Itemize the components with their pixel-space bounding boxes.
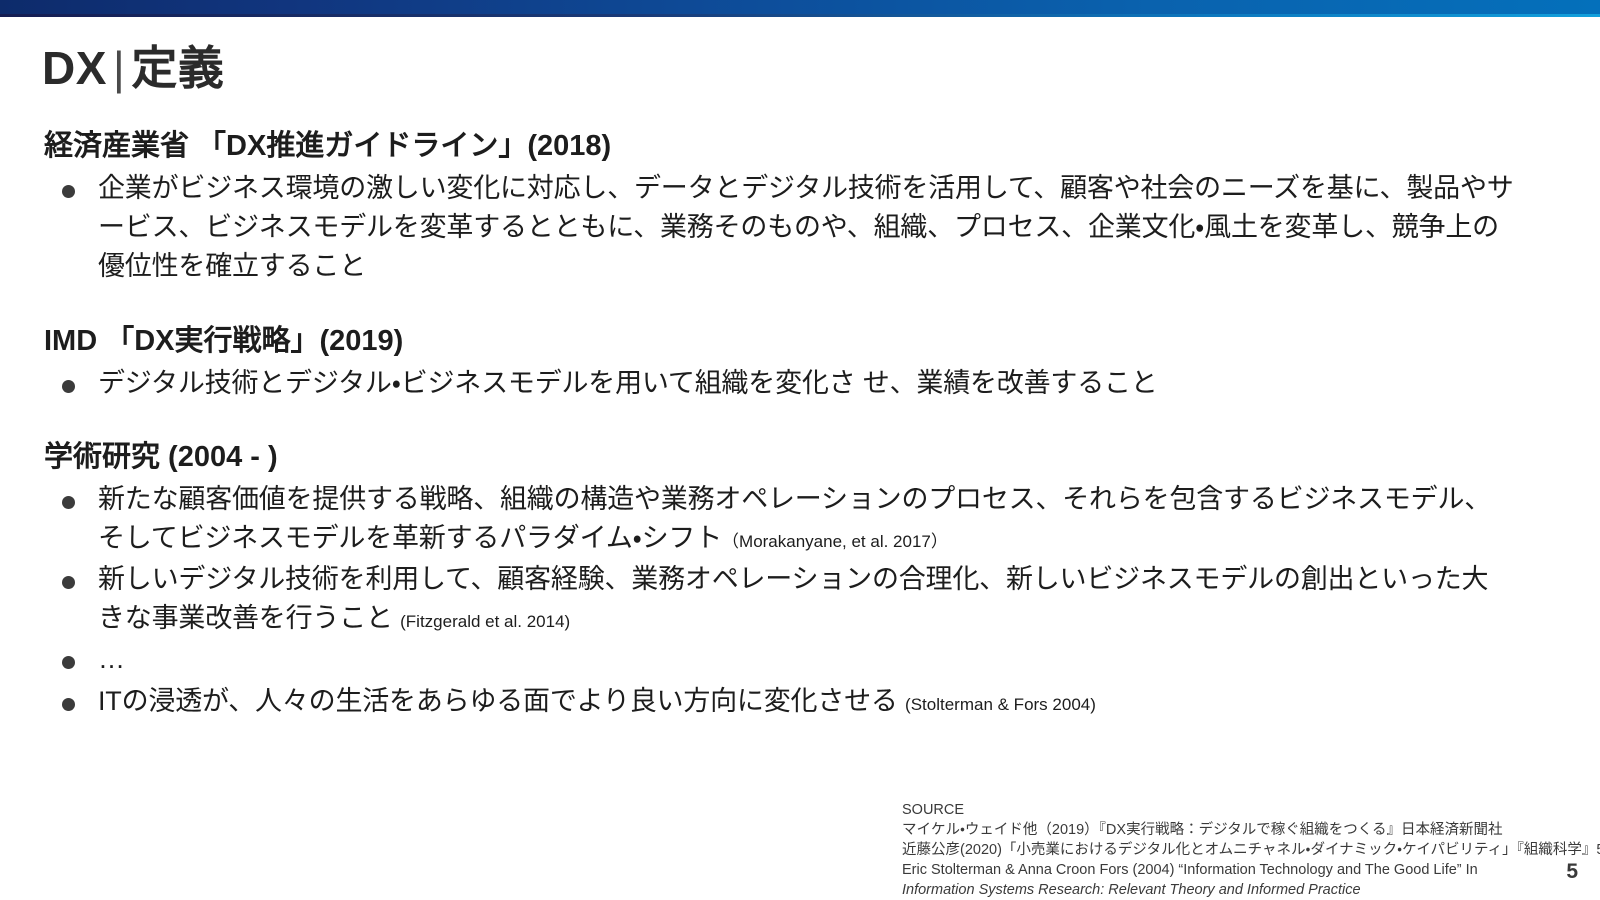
header-accent-underline [0, 14, 1600, 17]
list-item: 新たな顧客価値を提供する戦略、組織の構造や業務オペレーションのプロセス、それらを… [44, 480, 1514, 558]
bullet-text: ITの浸透が、人々の生活をあらゆる面でより良い方向に変化させる [98, 686, 898, 716]
section-academic: 学術研究 (2004 - ) 新たな顧客価値を提供する戦略、組織の構造や業務オペ… [44, 439, 1514, 721]
citation: (Fitzgerald et al. 2014) [400, 612, 570, 631]
source-line: マイケル・ウェイド他（2019）『DX実行戦略：デジタルで稼ぐ組織をつくる』日本… [902, 820, 1462, 840]
section-meti: 経済産業省 「DX推進ガイドライン」(2018) 企業がビジネス環境の激しい変化… [44, 128, 1514, 287]
page-title: DX|定義 [42, 32, 224, 98]
list-item: 新しいデジタル技術を利用して、顧客経験、業務オペレーションの合理化、新しいビジネ… [44, 560, 1514, 638]
citation: （Morakanyane, et al. 2017） [722, 532, 948, 551]
list-item: 企業がビジネス環境の激しい変化に対応し、データとデジタル技術を活用して、顧客や社… [44, 169, 1514, 286]
list-item: … [44, 640, 1514, 679]
page-title-sub: 定義 [131, 42, 224, 94]
source-line-italic: Information Systems Research: Relevant T… [902, 880, 1462, 900]
bullet-list-imd: デジタル技術とデジタル・ビジネスモデルを用いて組織を変化さ せ、業績を改善するこ… [44, 364, 1514, 403]
bullet-text: 新しいデジタル技術を利用して、顧客経験、業務オペレーションの合理化、新しいビジネ… [98, 564, 1488, 633]
citation: (Stolterman & Fors 2004) [905, 695, 1096, 714]
section-spacer [44, 405, 1514, 439]
bullet-text: … [98, 644, 125, 674]
title-separator: | [107, 42, 131, 94]
bullet-list-academic: 新たな顧客価値を提供する戦略、組織の構造や業務オペレーションのプロセス、それらを… [44, 480, 1514, 721]
page-number: 5 [1566, 860, 1578, 884]
section-heading-imd: IMD 「DX実行戦略」(2019) [44, 323, 1514, 360]
header-gradient-bar [0, 0, 1600, 14]
section-spacer [44, 289, 1514, 323]
source-label: SOURCE [902, 800, 1462, 820]
bullet-text: デジタル技術とデジタル・ビジネスモデルを用いて組織を変化さ せ、業績を改善するこ… [98, 368, 1158, 398]
bullet-list-meti: 企業がビジネス環境の激しい変化に対応し、データとデジタル技術を活用して、顧客や社… [44, 169, 1514, 286]
page-title-main: DX [42, 42, 107, 94]
source-line: Eric Stolterman & Anna Croon Fors (2004)… [902, 860, 1462, 880]
section-imd: IMD 「DX実行戦略」(2019) デジタル技術とデジタル・ビジネスモデルを用… [44, 323, 1514, 403]
source-note: SOURCE マイケル・ウェイド他（2019）『DX実行戦略：デジタルで稼ぐ組織… [902, 800, 1462, 900]
slide-body: 経済産業省 「DX推進ガイドライン」(2018) 企業がビジネス環境の激しい変化… [44, 128, 1514, 723]
list-item: ITの浸透が、人々の生活をあらゆる面でより良い方向に変化させる (Stolter… [44, 682, 1514, 721]
section-heading-meti: 経済産業省 「DX推進ガイドライン」(2018) [44, 128, 1514, 165]
section-heading-academic: 学術研究 (2004 - ) [44, 439, 1514, 476]
source-line: 近藤公彦(2020)「小売業におけるデジタル化とオムニチャネル・ダイナミック・ケ… [902, 840, 1462, 860]
list-item: デジタル技術とデジタル・ビジネスモデルを用いて組織を変化さ せ、業績を改善するこ… [44, 364, 1514, 403]
bullet-text: 企業がビジネス環境の激しい変化に対応し、データとデジタル技術を活用して、顧客や社… [98, 173, 1514, 281]
